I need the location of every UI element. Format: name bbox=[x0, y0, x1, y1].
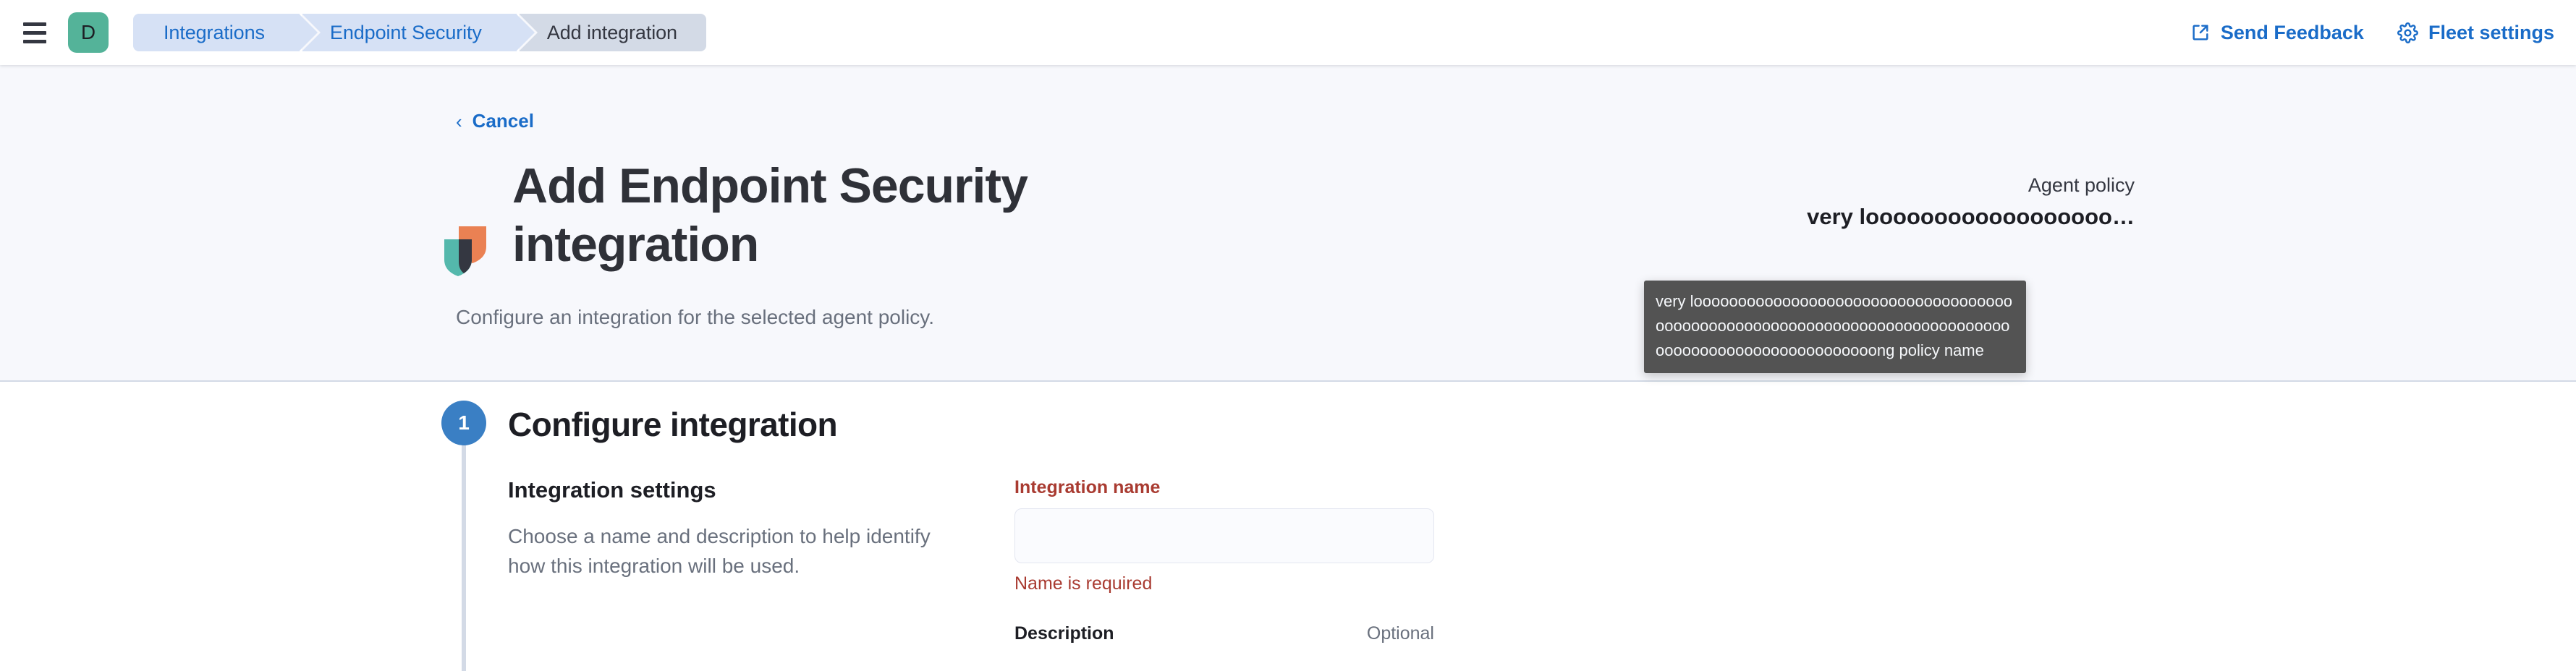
page-hero: ‹ Cancel Add Endpoint Security integrati… bbox=[0, 65, 2576, 382]
hamburger-bar bbox=[23, 31, 46, 35]
avatar-initial: D bbox=[81, 21, 96, 44]
description-label: Description bbox=[1014, 623, 1114, 644]
settings-description-column: Integration settings Choose a name and d… bbox=[508, 477, 971, 581]
cancel-label: Cancel bbox=[473, 110, 534, 132]
integration-name-error: Name is required bbox=[1014, 573, 1449, 594]
page-title: Add Endpoint Security integration bbox=[512, 157, 1135, 274]
integration-name-label: Integration name bbox=[1014, 477, 1160, 497]
integration-name-input[interactable] bbox=[1014, 508, 1434, 563]
agent-policy-summary: Agent policy very loooooooooooooooooo… bbox=[1729, 157, 2135, 230]
fleet-settings-label: Fleet settings bbox=[2428, 22, 2554, 44]
fleet-settings-button[interactable]: Fleet settings bbox=[2397, 22, 2554, 44]
hamburger-bar bbox=[23, 22, 46, 26]
breadcrumb-label: Integrations bbox=[164, 22, 265, 44]
send-feedback-label: Send Feedback bbox=[2221, 22, 2364, 44]
settings-form-column: Integration name Name is required Descri… bbox=[1014, 477, 1449, 644]
integration-settings-section: Integration settings Choose a name and d… bbox=[508, 477, 2135, 644]
step-title: Configure integration bbox=[508, 401, 837, 444]
hamburger-icon[interactable] bbox=[20, 18, 49, 47]
breadcrumb-item-endpoint-security[interactable]: Endpoint Security bbox=[302, 14, 517, 51]
avatar[interactable]: D bbox=[68, 12, 109, 53]
breadcrumb-label: Add integration bbox=[547, 22, 677, 44]
top-header-bar: D Integrations Endpoint Security Add int… bbox=[0, 0, 2576, 65]
step-badge: 1 bbox=[441, 401, 486, 445]
gear-icon bbox=[2397, 22, 2418, 43]
agent-policy-tooltip: very loooooooooooooooooooooooooooooooooo… bbox=[1644, 281, 2026, 373]
description-optional-badge: Optional bbox=[1367, 623, 1434, 644]
breadcrumb-item-add-integration[interactable]: Add integration bbox=[520, 14, 706, 51]
header-actions: Send Feedback Fleet settings bbox=[2190, 22, 2554, 44]
step-content-area: 1 Configure integration Integration sett… bbox=[0, 383, 2576, 671]
step-connector-line bbox=[462, 443, 466, 671]
breadcrumb: Integrations Endpoint Security Add integ… bbox=[133, 14, 706, 51]
step-number: 1 bbox=[441, 401, 486, 445]
description-field-header: Description Optional bbox=[1014, 623, 1434, 644]
cancel-link[interactable]: ‹ Cancel bbox=[456, 110, 534, 132]
hamburger-bar bbox=[23, 40, 46, 43]
breadcrumb-item-integrations[interactable]: Integrations bbox=[133, 14, 300, 51]
settings-heading: Integration settings bbox=[508, 477, 971, 503]
step-header: 1 Configure integration bbox=[441, 401, 2135, 445]
external-link-icon bbox=[2190, 22, 2211, 43]
endpoint-security-shield-icon bbox=[441, 223, 489, 278]
chevron-left-icon: ‹ bbox=[456, 112, 462, 131]
send-feedback-button[interactable]: Send Feedback bbox=[2190, 22, 2364, 44]
agent-policy-value[interactable]: very loooooooooooooooooo… bbox=[1729, 204, 2135, 230]
agent-policy-label: Agent policy bbox=[1729, 173, 2135, 198]
breadcrumb-label: Endpoint Security bbox=[330, 22, 482, 44]
settings-description: Choose a name and description to help id… bbox=[508, 522, 942, 581]
